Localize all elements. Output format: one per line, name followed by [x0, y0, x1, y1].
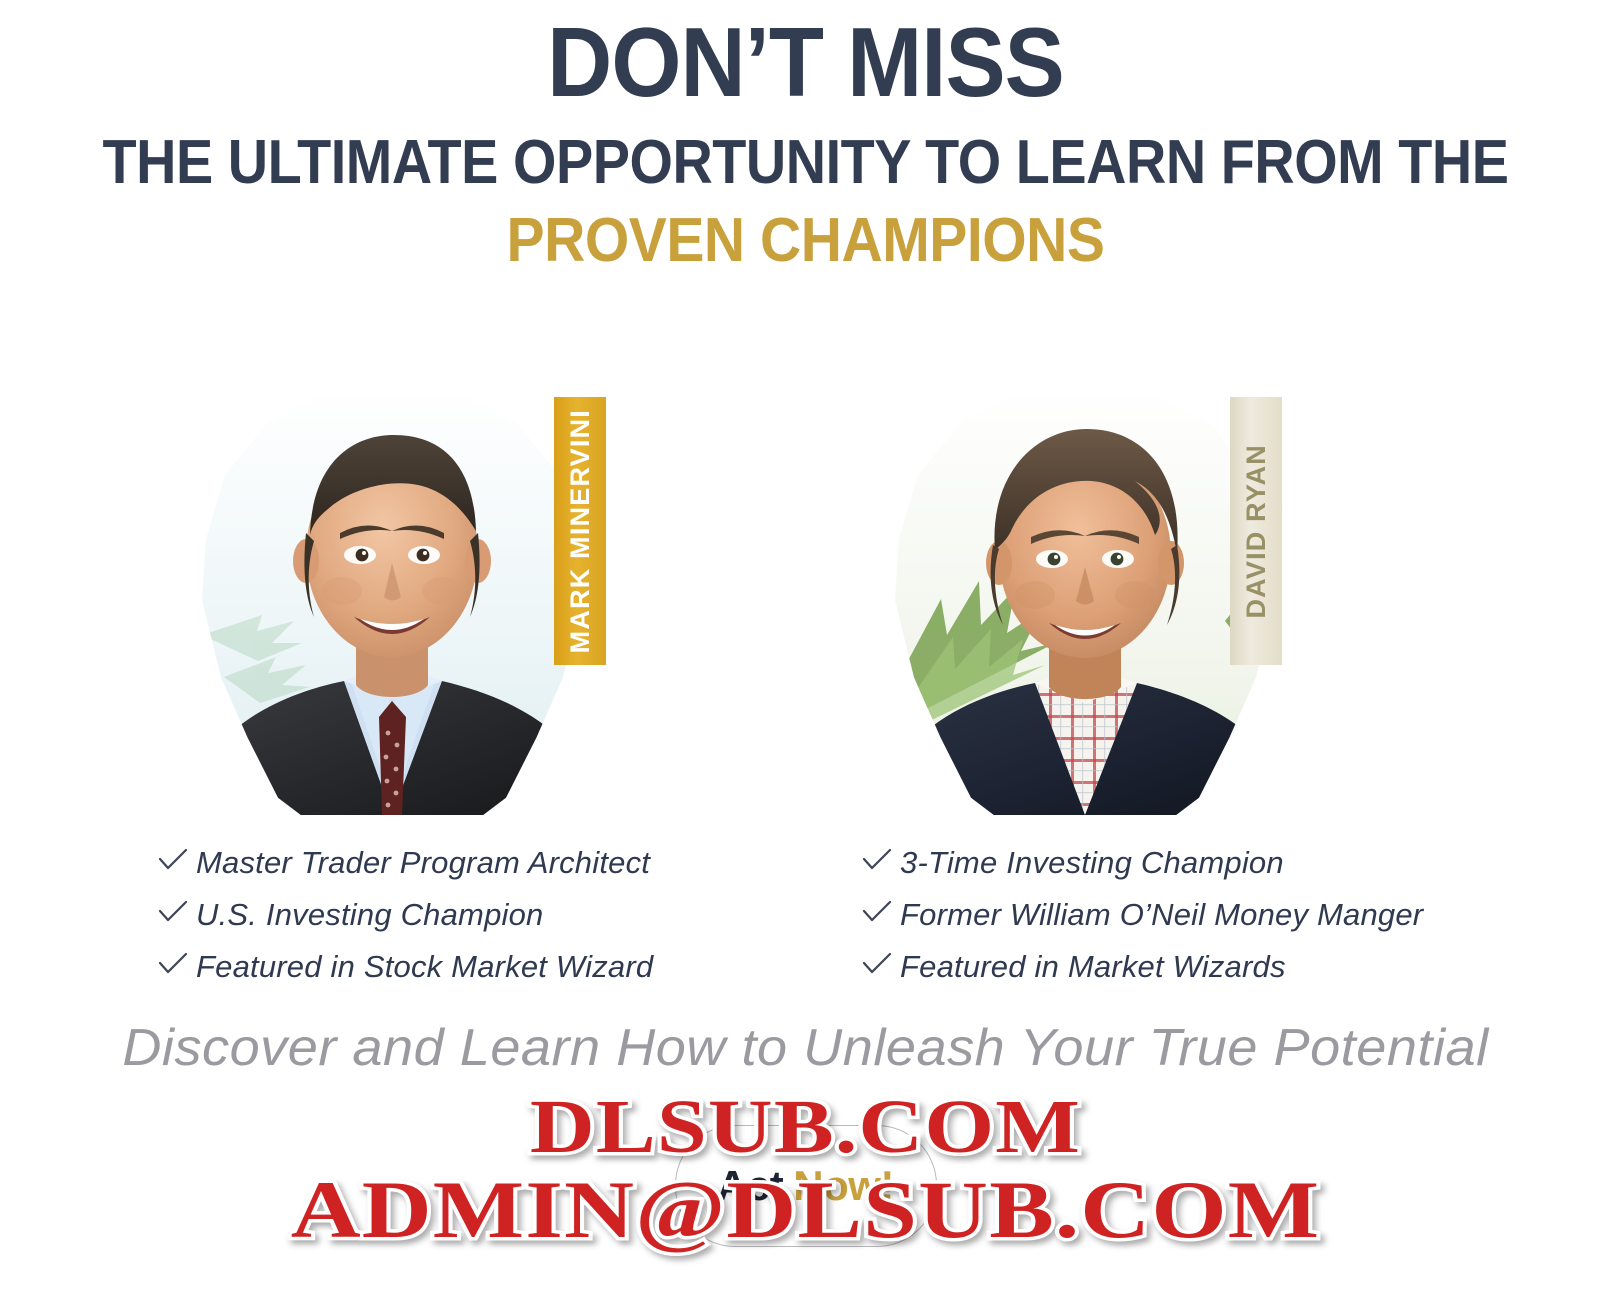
check-icon: [862, 951, 900, 977]
bullet-text: 3-Time Investing Champion: [900, 845, 1284, 881]
list-item: Former William O’Neil Money Manger: [862, 897, 1423, 933]
list-item: Featured in Market Wizards: [862, 949, 1423, 985]
headline-line-2: THE ULTIMATE OPPORTUNITY TO LEARN FROM T…: [81, 132, 1531, 194]
bullet-text: Former William O’Neil Money Manger: [900, 897, 1423, 933]
watermark-site: DLSUB.COM: [0, 1084, 1611, 1171]
headline-block: DON’T MISS THE ULTIMATE OPPORTUNITY TO L…: [0, 0, 1611, 272]
headline-line-1: DON’T MISS: [64, 14, 1546, 110]
speaker-name-banner-david-ryan: DAVID RYAN: [1230, 397, 1282, 665]
list-item: Master Trader Program Architect: [158, 845, 653, 881]
bullet-text: Featured in Market Wizards: [900, 949, 1286, 985]
speaker-card-mark-minervini: MARK MINERVINI: [192, 385, 622, 825]
watermark-site-text: DLSUB.COM: [530, 1084, 1081, 1171]
speaker-photo-mark-minervini: [202, 385, 582, 815]
check-icon: [158, 951, 196, 977]
speaker-photo-david-ryan: [895, 385, 1275, 815]
list-item: Featured in Stock Market Wizard: [158, 949, 653, 985]
check-icon: [158, 847, 196, 873]
check-icon: [862, 899, 900, 925]
speaker-name-banner-mark-minervini: MARK MINERVINI: [554, 397, 606, 665]
watermark-email: ADMIN@DLSUB.COM: [0, 1163, 1611, 1257]
speaker-name-label: MARK MINERVINI: [565, 409, 596, 653]
headline-line-3-accent: PROVEN CHAMPIONS: [64, 210, 1546, 272]
list-item: 3-Time Investing Champion: [862, 845, 1423, 881]
watermark-email-text: ADMIN@DLSUB.COM: [291, 1163, 1321, 1257]
tagline: Discover and Learn How to Unleash Your T…: [0, 1018, 1611, 1078]
list-item: U.S. Investing Champion: [158, 897, 653, 933]
bullet-text: U.S. Investing Champion: [196, 897, 544, 933]
speaker-card-david-ryan: DAVID RYAN: [885, 385, 1315, 825]
speaker-bullets-mark-minervini: Master Trader Program Architect U.S. Inv…: [158, 845, 653, 1001]
check-icon: [158, 899, 196, 925]
speaker-name-label: DAVID RYAN: [1241, 444, 1272, 619]
speakers-row: MARK MINERVINI: [0, 385, 1611, 825]
check-icon: [862, 847, 900, 873]
bullet-text: Master Trader Program Architect: [196, 845, 650, 881]
bullet-text: Featured in Stock Market Wizard: [196, 949, 653, 985]
speaker-bullets-david-ryan: 3-Time Investing Champion Former William…: [862, 845, 1423, 1001]
